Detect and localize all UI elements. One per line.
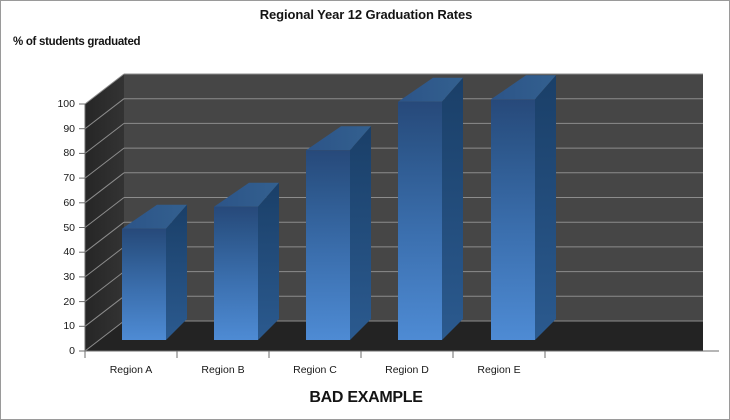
- x-category-label-region-b: Region B: [177, 364, 269, 376]
- plot-area: 100 90 80 70 60 50 40 30 20 10 0 Region …: [1, 1, 730, 420]
- bar-front-face: [491, 99, 535, 340]
- bar-front-face: [122, 229, 166, 340]
- x-category-label-region-c: Region C: [269, 364, 361, 376]
- y-tick-label-10: 10: [41, 321, 75, 331]
- x-category-label-region-e: Region E: [453, 364, 545, 376]
- bar-side-face: [350, 126, 371, 340]
- y-axis-line: [79, 104, 85, 351]
- x-category-label-region-a: Region A: [85, 364, 177, 376]
- y-tick-label-50: 50: [41, 223, 75, 233]
- y-tick-label-0: 0: [41, 346, 75, 356]
- bar-region-b[interactable]: [214, 183, 279, 340]
- y-tick-label-20: 20: [41, 297, 75, 307]
- y-tick-label-40: 40: [41, 247, 75, 257]
- chart-frame: Regional Year 12 Graduation Rates % of s…: [0, 0, 730, 420]
- x-category-label-region-d: Region D: [361, 364, 453, 376]
- y-tick-label-70: 70: [41, 173, 75, 183]
- x-axis-line: [85, 351, 719, 358]
- bar-region-e[interactable]: [491, 75, 556, 340]
- bar-front-face: [214, 207, 258, 340]
- y-tick-label-90: 90: [41, 124, 75, 134]
- y-tick-label-30: 30: [41, 272, 75, 282]
- bar-region-a[interactable]: [122, 205, 187, 340]
- bar-side-face: [442, 78, 463, 340]
- y-tick-label-60: 60: [41, 198, 75, 208]
- plot-3d-canvas: [1, 1, 730, 420]
- bar-side-face: [535, 75, 556, 340]
- bar-front-face: [306, 150, 350, 340]
- y-tick-label-80: 80: [41, 148, 75, 158]
- bar-side-face: [258, 183, 279, 340]
- y-tick-label-100: 100: [41, 99, 75, 109]
- bar-front-face: [398, 102, 442, 340]
- bar-region-d[interactable]: [398, 78, 463, 340]
- bar-region-c[interactable]: [306, 126, 371, 340]
- x-axis-title: BAD EXAMPLE: [1, 389, 730, 407]
